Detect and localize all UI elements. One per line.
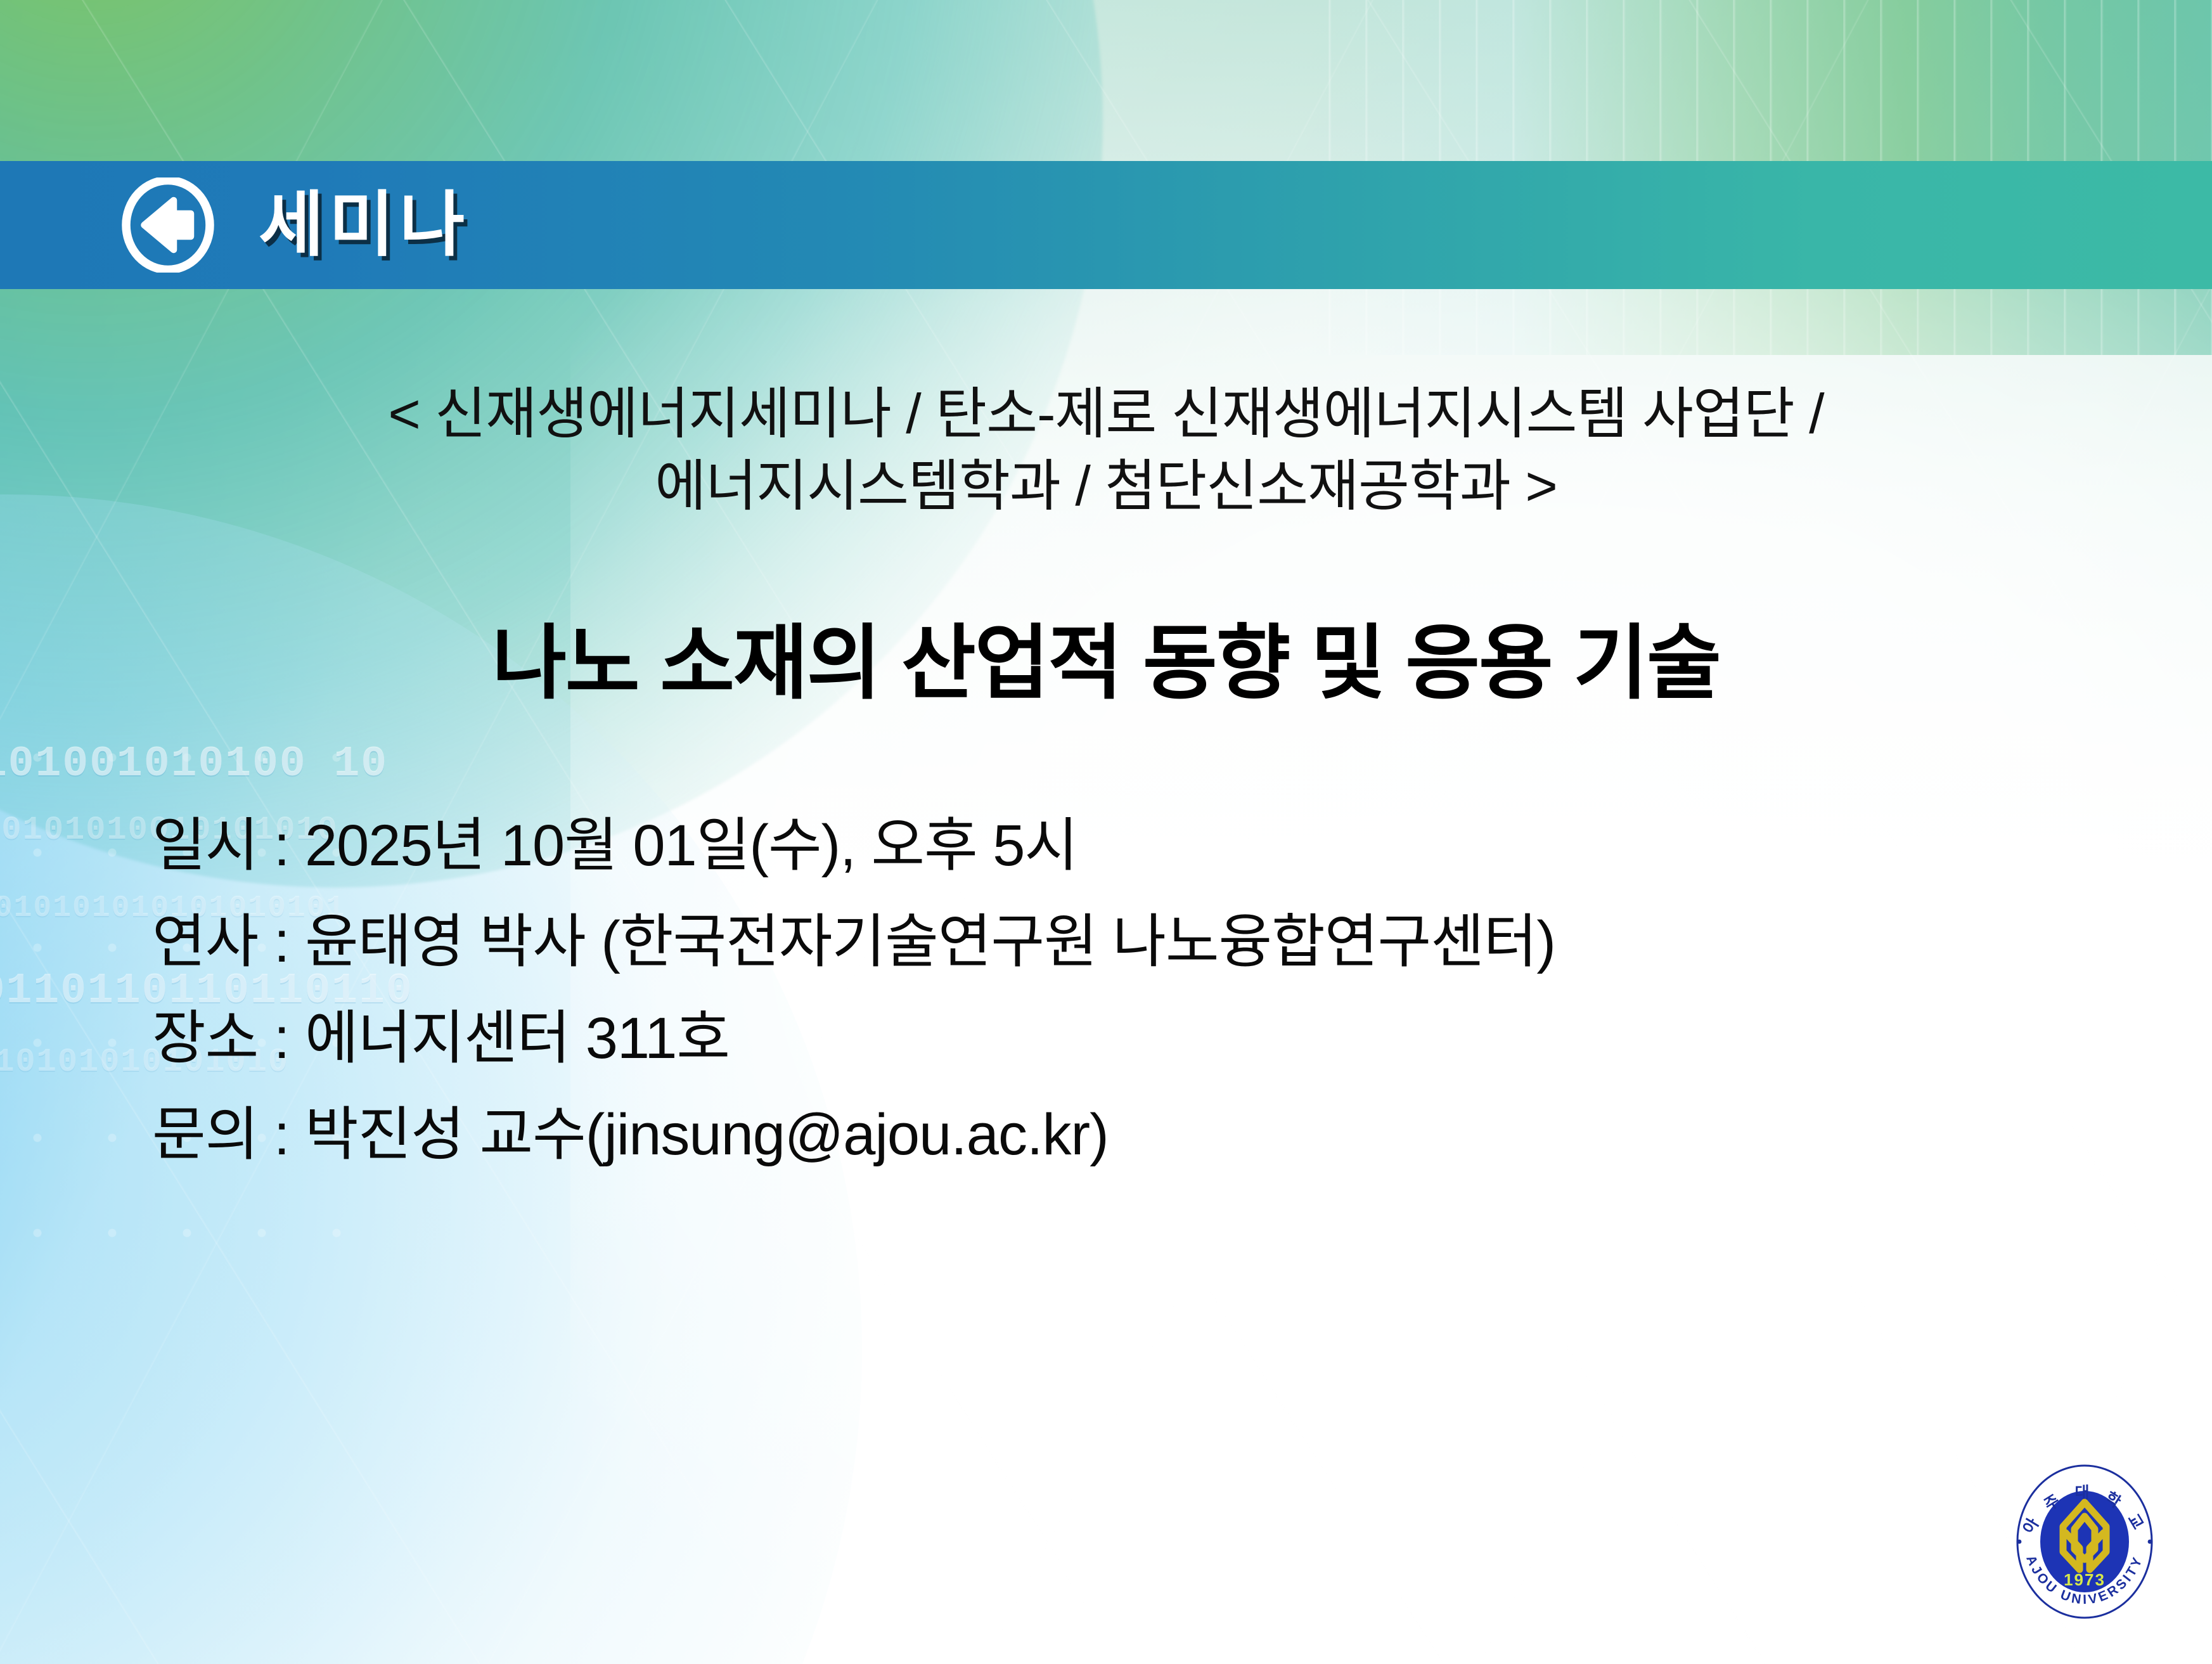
seminar-subtitle: < 신재생에너지세미나 / 탄소-제로 신재생에너지시스템 사업단 / 에너지시… [124,378,2088,523]
detail-location: 장소 : 에너지센터 311호 [152,990,2212,1087]
subtitle-line-2: 에너지시스템학과 / 첨단신소재공학과 > [124,450,2088,522]
seminar-main-title: 나노 소재의 산업적 동향 및 응용 기술 [60,618,2152,709]
logo-year: 1973 [2064,1570,2106,1589]
back-arrow-circle-icon[interactable] [120,177,215,273]
subtitle-line-1: < 신재생에너지세미나 / 탄소-제로 신재생에너지시스템 사업단 / [124,378,2088,450]
header-title: 세미나 [259,190,470,261]
ajou-university-logo: 1973 아 주 대 학 교 AJOU UNIVERSITY [2005,1455,2164,1628]
header-bar: 세미나 [0,161,2212,289]
seminar-details: 일시 : 2025년 10월 01일(수), 오후 5시 연사 : 윤태영 박사… [152,797,2212,1183]
logo-dot-left [2017,1540,2022,1544]
detail-speaker: 연사 : 윤태영 박사 (한국전자기술연구원 나노융합연구센터) [152,894,2212,990]
logo-dot-right [2148,1540,2152,1544]
seminar-poster-slide: 101001010100 10 010101010010101010 10101… [0,0,2212,1664]
detail-datetime: 일시 : 2025년 10월 01일(수), 오후 5시 [152,797,2212,894]
detail-contact: 문의 : 박진성 교수(jinsung@ajou.ac.kr) [152,1087,2212,1183]
poster-content: < 신재생에너지세미나 / 탄소-제로 신재생에너지시스템 사업단 / 에너지시… [0,289,2212,1664]
